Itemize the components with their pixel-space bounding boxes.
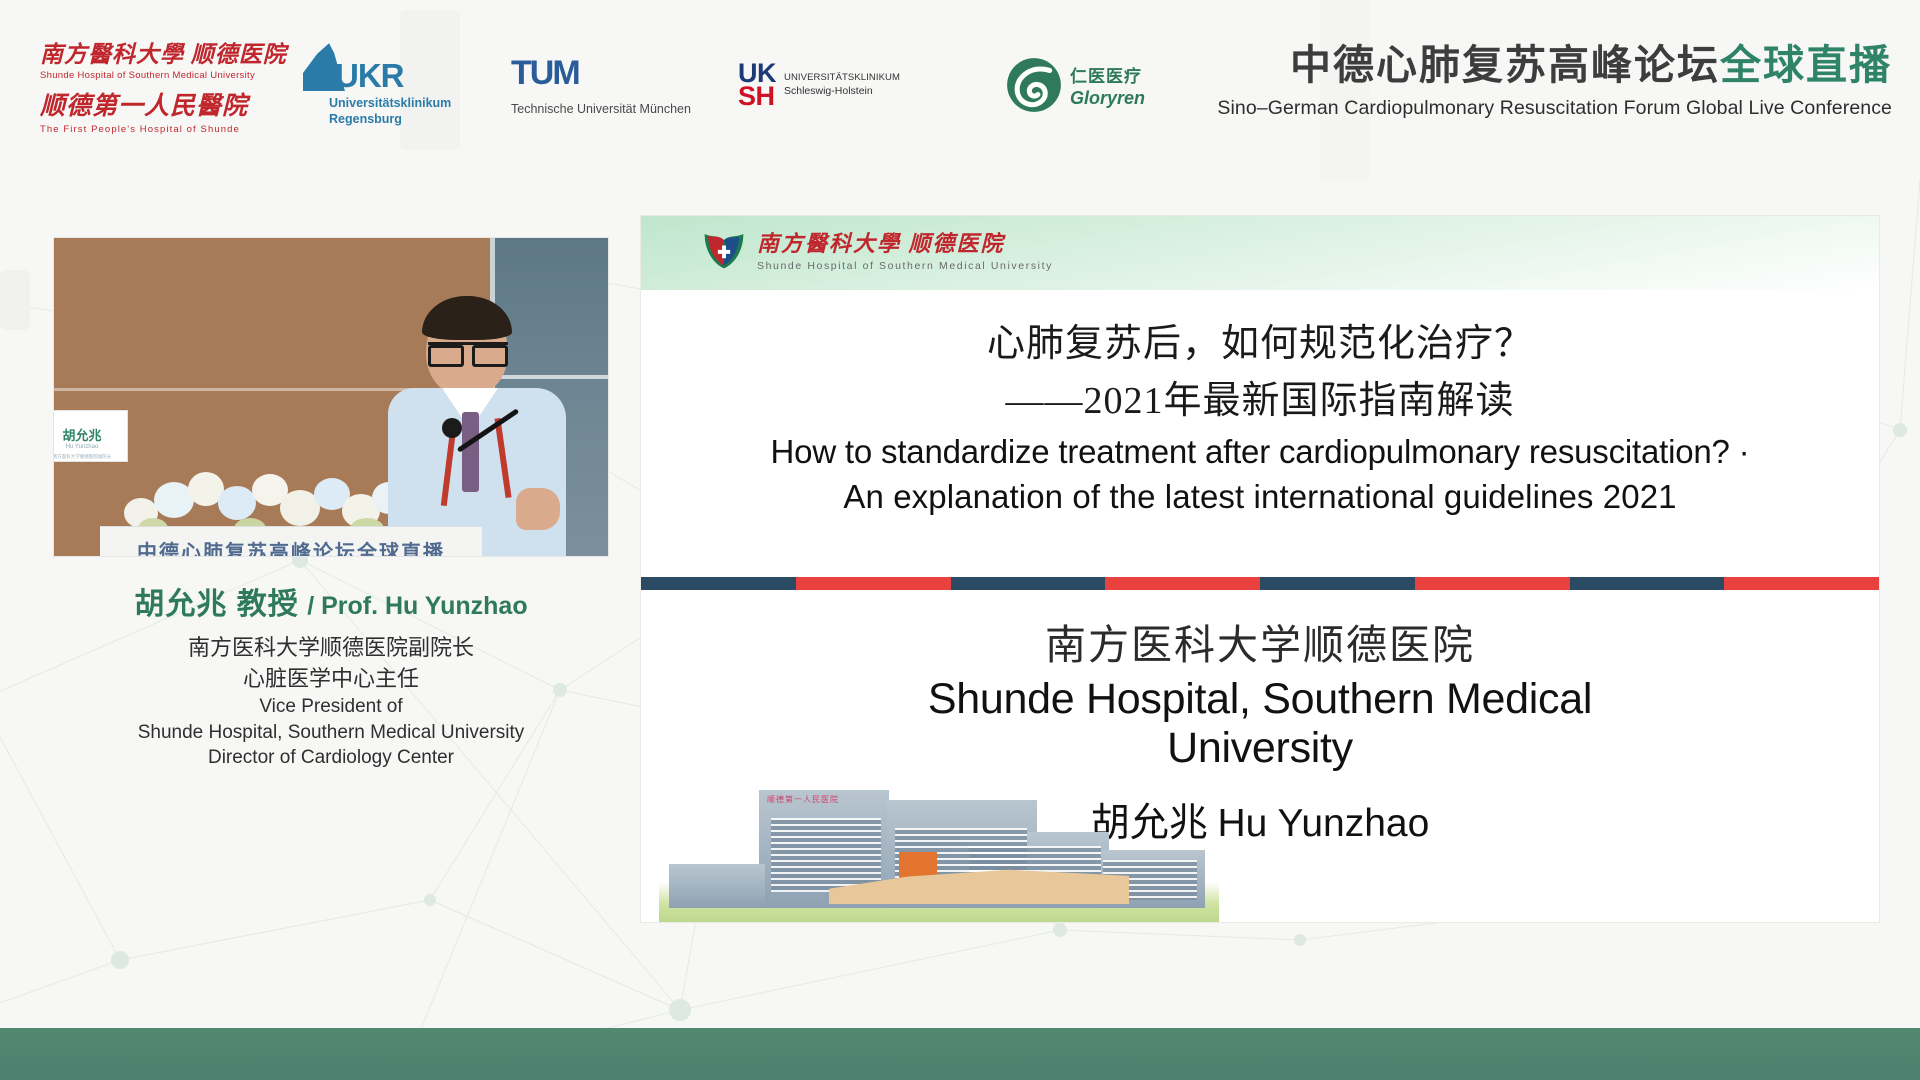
hospital-emblem-icon xyxy=(701,227,747,271)
speaker-affiliation-en-line3: Director of Cardiology Center xyxy=(53,745,609,770)
tum-logo-mark: TUM xyxy=(511,54,686,93)
event-title-cn: 中德心肺复苏高峰论坛全球直播 xyxy=(1217,44,1892,87)
divider-segment xyxy=(641,577,796,590)
slide-title-cn-line2: ——2021年最新国际指南解读 xyxy=(641,373,1879,430)
uksh-logo-subtitle: UNIVERSITÄTSKLINIKUM Schleswig-Holstein xyxy=(784,72,900,99)
video-speaker-necktie xyxy=(462,412,479,492)
slide-logo-en: Shunde Hospital of Southern Medical Univ… xyxy=(757,260,1053,272)
gloryren-logo: 仁医医疗 Gloryren xyxy=(1006,57,1166,113)
uksh-subtitle-line1: UNIVERSITÄTSKLINIKUM xyxy=(784,72,900,85)
event-title-cn-accent: 全球直播 xyxy=(1720,42,1892,88)
slide-logo-cn: 南方醫科大學 顺德医院 xyxy=(757,226,1053,258)
shunde-logo-en-line2: The First People's Hospital of Shunde xyxy=(40,124,255,135)
event-title-en: Sino–German Cardiopulmonary Resuscitatio… xyxy=(1217,97,1892,120)
slide-logo-wordmark: 南方醫科大學 顺德医院 Shunde Hospital of Southern … xyxy=(757,226,1053,272)
speaker-video-feed[interactable]: 胡允兆 Hu Yunzhao 南方医科大学顺德医院副院长 中德心肺复苏高峰论坛全… xyxy=(53,237,609,557)
sponsor-logo-strip: 南方醫科大學 顺德医院 Shunde Hospital of Southern … xyxy=(40,35,1166,135)
video-name-card: 胡允兆 Hu Yunzhao 南方医科大学顺德医院副院长 xyxy=(53,410,128,462)
building-block xyxy=(669,864,765,908)
speaker-affiliation-en-line1: Vice President of xyxy=(53,694,609,719)
divider-segment xyxy=(951,577,1106,590)
event-title-cn-main: 中德心肺复苏高峰论坛 xyxy=(1290,42,1720,88)
presentation-slide[interactable]: 南方醫科大學 顺德医院 Shunde Hospital of Southern … xyxy=(641,216,1879,922)
speaker-affiliation-cn-line1: 南方医科大学顺德医院副院长 xyxy=(53,632,609,663)
tum-logo-subtitle: Technische Universität München xyxy=(511,102,686,116)
speaker-affiliation-cn-line2: 心脏医学中心主任 xyxy=(53,663,609,694)
uksh-mark-sh: SH xyxy=(738,85,776,108)
divider-segment xyxy=(796,577,951,590)
slide-title-cn-line1: 心肺复苏后，如何规范化治疗？ xyxy=(641,316,1879,373)
video-speaker-figure xyxy=(384,300,569,557)
slide-title-en-line1: How to standardize treatment after cardi… xyxy=(641,430,1879,475)
ukr-subtitle-line1: Universitätsklinikum xyxy=(329,96,453,111)
speaker-panel: 胡允兆 Hu Yunzhao 南方医科大学顺德医院副院长 中德心肺复苏高峰论坛全… xyxy=(53,237,609,770)
tum-logo: TUM Technische Universität München xyxy=(511,54,686,116)
video-podium-banner-text: 中德心肺复苏高峰论坛全球直播 xyxy=(112,536,470,557)
gloryren-logo-text: 仁医医疗 Gloryren xyxy=(1070,62,1145,109)
name-card-cn: 胡允兆 xyxy=(53,425,127,444)
gloryren-en: Gloryren xyxy=(1070,88,1145,109)
divider-segment xyxy=(1570,577,1725,590)
shunde-logo-cn-line1: 南方醫科大學 顺德医院 xyxy=(40,35,255,69)
slide-divider-bar xyxy=(641,577,1879,590)
video-speaker-hair xyxy=(422,296,512,340)
event-title-block: 中德心肺复苏高峰论坛全球直播 Sino–German Cardiopulmona… xyxy=(1217,44,1892,120)
speaker-name-en: / Prof. Hu Yunzhao xyxy=(307,592,527,620)
decor-blob xyxy=(0,270,30,330)
ukr-logo: UKR Universitätsklinikum Regensburg xyxy=(303,43,453,127)
shunde-logo-en-line1: Shunde Hospital of Southern Medical Univ… xyxy=(40,70,255,81)
divider-segment xyxy=(1105,577,1260,590)
speaker-affiliation-en-line2: Shunde Hospital, Southern Medical Univer… xyxy=(53,720,609,745)
shunde-hospital-logo: 南方醫科大學 顺德医院 Shunde Hospital of Southern … xyxy=(40,35,255,135)
uksh-subtitle-line2: Schleswig-Holstein xyxy=(784,84,900,98)
ukr-logo-letters: UKR xyxy=(335,61,404,91)
name-card-affil: 南方医科大学顺德医院副院长 xyxy=(53,454,127,460)
slide-title-en-line2: An explanation of the latest internation… xyxy=(641,475,1879,520)
slide-footer-cn: 南方医科大学顺德医院 xyxy=(641,616,1879,675)
speaker-name: 胡允兆 教授 / Prof. Hu Yunzhao xyxy=(53,579,609,623)
divider-segment xyxy=(1724,577,1879,590)
slide-footer-en-line1: Shunde Hospital, Southern Medical xyxy=(641,675,1879,723)
building-windows xyxy=(771,818,881,892)
page-header: 南方醫科大學 顺德医院 Shunde Hospital of Southern … xyxy=(0,0,1920,170)
uksh-logo: UK SH UNIVERSITÄTSKLINIKUM Schleswig-Hol… xyxy=(738,62,968,108)
name-card-pinyin: Hu Yunzhao xyxy=(53,444,127,450)
building-sign-text: 顺德第一人民医院 xyxy=(767,794,885,806)
speaker-affiliation: 南方医科大学顺德医院副院长 心脏医学中心主任 Vice President of… xyxy=(53,632,609,770)
gloryren-cn: 仁医医疗 xyxy=(1070,62,1145,87)
microphone-icon xyxy=(442,418,462,438)
ukr-logo-subtitle: Universitätsklinikum Regensburg xyxy=(329,96,453,127)
gloryren-swirl-icon xyxy=(1006,57,1062,113)
slide-hospital-building-image: 顺德第一人民医院 xyxy=(659,772,1219,922)
video-speaker-hand xyxy=(516,488,560,530)
divider-segment xyxy=(1260,577,1415,590)
bottom-accent-bar xyxy=(0,1028,1920,1080)
shunde-logo-cn-line2: 顺德第一人民醫院 xyxy=(40,86,255,122)
slide-title-block: 心肺复苏后，如何规范化治疗？ ——2021年最新国际指南解读 How to st… xyxy=(641,316,1879,519)
ukr-subtitle-line2: Regensburg xyxy=(329,112,453,127)
slide-footer-en-line2: University xyxy=(641,724,1879,772)
slide-hospital-logo: 南方醫科大學 顺德医院 Shunde Hospital of Southern … xyxy=(701,226,1053,272)
ukr-logo-mark: UKR xyxy=(303,43,453,91)
video-speaker-glasses-icon xyxy=(428,342,508,358)
speaker-name-cn: 胡允兆 教授 xyxy=(134,588,298,621)
divider-segment xyxy=(1415,577,1570,590)
slide-footer-presenter-en: Hu Yunzhao xyxy=(1217,802,1429,845)
uksh-logo-mark: UK SH xyxy=(738,62,776,108)
